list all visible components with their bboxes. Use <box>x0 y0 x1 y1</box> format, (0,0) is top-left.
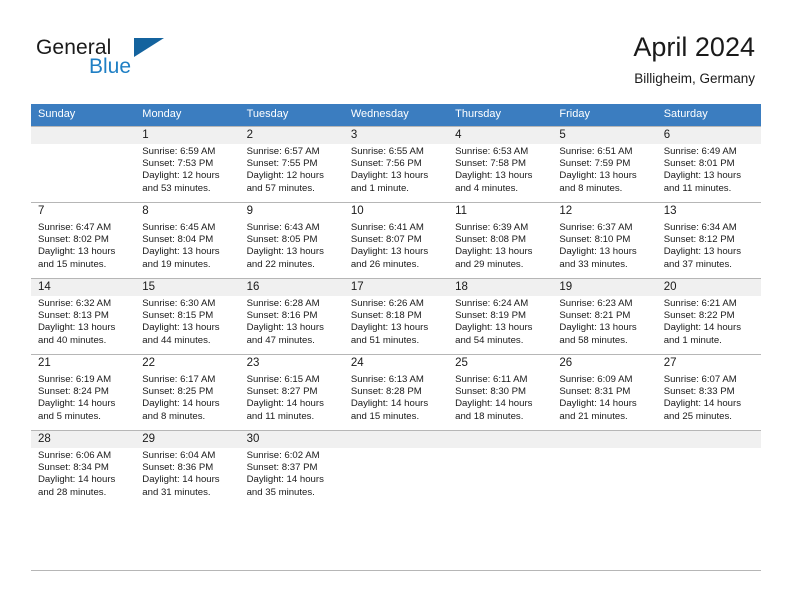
calendar-cell: 22Sunrise: 6:17 AMSunset: 8:25 PMDayligh… <box>135 354 239 430</box>
day-cell[interactable]: 1Sunrise: 6:59 AMSunset: 7:53 PMDaylight… <box>135 126 239 202</box>
sunrise-text: Sunrise: 6:13 AM <box>351 374 443 386</box>
sunrise-text: Sunrise: 6:49 AM <box>664 146 756 158</box>
brand-triangle-icon <box>134 38 164 57</box>
daylight-text: Daylight: 13 hours and 51 minutes. <box>351 322 443 346</box>
sunset-text: Sunset: 8:01 PM <box>664 158 756 170</box>
sunset-text: Sunset: 7:58 PM <box>455 158 547 170</box>
grid-bottom-rule <box>31 570 761 571</box>
daylight-text: Daylight: 13 hours and 8 minutes. <box>559 170 651 194</box>
sunset-text: Sunset: 8:18 PM <box>351 310 443 322</box>
calendar-cell: 1Sunrise: 6:59 AMSunset: 7:53 PMDaylight… <box>135 126 239 202</box>
sunset-text: Sunset: 8:19 PM <box>455 310 547 322</box>
calendar-cell: 20Sunrise: 6:21 AMSunset: 8:22 PMDayligh… <box>657 278 761 354</box>
sunrise-text: Sunrise: 6:07 AM <box>664 374 756 386</box>
sunrise-text: Sunrise: 6:09 AM <box>559 374 651 386</box>
day-number <box>344 431 448 448</box>
weekday-header-friday: Friday <box>552 104 656 126</box>
calendar-cell: 26Sunrise: 6:09 AMSunset: 8:31 PMDayligh… <box>552 354 656 430</box>
day-cell[interactable]: 9Sunrise: 6:43 AMSunset: 8:05 PMDaylight… <box>240 202 344 278</box>
calendar-cell <box>657 430 761 506</box>
day-details: Sunrise: 6:09 AMSunset: 8:31 PMDaylight:… <box>552 372 656 423</box>
sunset-text: Sunset: 7:55 PM <box>247 158 339 170</box>
day-number: 21 <box>31 355 135 372</box>
calendar-cell <box>552 430 656 506</box>
day-details: Sunrise: 6:28 AMSunset: 8:16 PMDaylight:… <box>240 296 344 347</box>
day-details: Sunrise: 6:24 AMSunset: 8:19 PMDaylight:… <box>448 296 552 347</box>
day-cell[interactable]: 13Sunrise: 6:34 AMSunset: 8:12 PMDayligh… <box>657 202 761 278</box>
sunrise-text: Sunrise: 6:53 AM <box>455 146 547 158</box>
day-number: 4 <box>448 127 552 144</box>
sunset-text: Sunset: 8:31 PM <box>559 386 651 398</box>
day-cell-empty <box>657 430 761 506</box>
sunrise-text: Sunrise: 6:21 AM <box>664 298 756 310</box>
calendar-cell: 13Sunrise: 6:34 AMSunset: 8:12 PMDayligh… <box>657 202 761 278</box>
day-details: Sunrise: 6:53 AMSunset: 7:58 PMDaylight:… <box>448 144 552 195</box>
day-number: 28 <box>31 431 135 448</box>
day-number: 18 <box>448 279 552 296</box>
day-number <box>657 431 761 448</box>
daylight-text: Daylight: 14 hours and 31 minutes. <box>142 474 234 498</box>
day-number: 23 <box>240 355 344 372</box>
sunrise-text: Sunrise: 6:59 AM <box>142 146 234 158</box>
day-cell[interactable]: 8Sunrise: 6:45 AMSunset: 8:04 PMDaylight… <box>135 202 239 278</box>
sunrise-text: Sunrise: 6:47 AM <box>38 222 130 234</box>
calendar-cell: 3Sunrise: 6:55 AMSunset: 7:56 PMDaylight… <box>344 126 448 202</box>
calendar-cell: 10Sunrise: 6:41 AMSunset: 8:07 PMDayligh… <box>344 202 448 278</box>
day-cell[interactable]: 25Sunrise: 6:11 AMSunset: 8:30 PMDayligh… <box>448 354 552 430</box>
day-number: 9 <box>240 203 344 220</box>
day-cell-empty <box>344 430 448 506</box>
sunset-text: Sunset: 8:10 PM <box>559 234 651 246</box>
sunset-text: Sunset: 8:27 PM <box>247 386 339 398</box>
calendar-week-row: 21Sunrise: 6:19 AMSunset: 8:24 PMDayligh… <box>31 354 761 430</box>
day-number: 12 <box>552 203 656 220</box>
calendar-week-row: 1Sunrise: 6:59 AMSunset: 7:53 PMDaylight… <box>31 126 761 202</box>
daylight-text: Daylight: 13 hours and 15 minutes. <box>38 246 130 270</box>
day-cell[interactable]: 26Sunrise: 6:09 AMSunset: 8:31 PMDayligh… <box>552 354 656 430</box>
calendar-cell: 17Sunrise: 6:26 AMSunset: 8:18 PMDayligh… <box>344 278 448 354</box>
calendar-cell: 25Sunrise: 6:11 AMSunset: 8:30 PMDayligh… <box>448 354 552 430</box>
sunset-text: Sunset: 7:56 PM <box>351 158 443 170</box>
sunset-text: Sunset: 8:05 PM <box>247 234 339 246</box>
day-details: Sunrise: 6:43 AMSunset: 8:05 PMDaylight:… <box>240 220 344 271</box>
day-details: Sunrise: 6:55 AMSunset: 7:56 PMDaylight:… <box>344 144 448 195</box>
sunrise-text: Sunrise: 6:17 AM <box>142 374 234 386</box>
calendar-cell: 27Sunrise: 6:07 AMSunset: 8:33 PMDayligh… <box>657 354 761 430</box>
day-cell[interactable]: 15Sunrise: 6:30 AMSunset: 8:15 PMDayligh… <box>135 278 239 354</box>
day-details: Sunrise: 6:59 AMSunset: 7:53 PMDaylight:… <box>135 144 239 195</box>
day-number: 25 <box>448 355 552 372</box>
sunrise-text: Sunrise: 6:55 AM <box>351 146 443 158</box>
day-cell[interactable]: 7Sunrise: 6:47 AMSunset: 8:02 PMDaylight… <box>31 202 135 278</box>
day-number: 24 <box>344 355 448 372</box>
daylight-text: Daylight: 14 hours and 1 minute. <box>664 322 756 346</box>
day-number: 6 <box>657 127 761 144</box>
day-details: Sunrise: 6:26 AMSunset: 8:18 PMDaylight:… <box>344 296 448 347</box>
daylight-text: Daylight: 13 hours and 40 minutes. <box>38 322 130 346</box>
day-cell[interactable]: 23Sunrise: 6:15 AMSunset: 8:27 PMDayligh… <box>240 354 344 430</box>
daylight-text: Daylight: 14 hours and 8 minutes. <box>142 398 234 422</box>
calendar-cell: 7Sunrise: 6:47 AMSunset: 8:02 PMDaylight… <box>31 202 135 278</box>
daylight-text: Daylight: 13 hours and 1 minute. <box>351 170 443 194</box>
daylight-text: Daylight: 13 hours and 37 minutes. <box>664 246 756 270</box>
daylight-text: Daylight: 12 hours and 53 minutes. <box>142 170 234 194</box>
calendar-cell <box>31 126 135 202</box>
page-title: April 2024 <box>633 30 755 64</box>
daylight-text: Daylight: 13 hours and 33 minutes. <box>559 246 651 270</box>
calendar-table: Sunday Monday Tuesday Wednesday Thursday… <box>31 104 761 506</box>
day-cell[interactable]: 19Sunrise: 6:23 AMSunset: 8:21 PMDayligh… <box>552 278 656 354</box>
day-cell[interactable]: 17Sunrise: 6:26 AMSunset: 8:18 PMDayligh… <box>344 278 448 354</box>
calendar-cell: 6Sunrise: 6:49 AMSunset: 8:01 PMDaylight… <box>657 126 761 202</box>
sunrise-text: Sunrise: 6:02 AM <box>247 450 339 462</box>
calendar-cell: 24Sunrise: 6:13 AMSunset: 8:28 PMDayligh… <box>344 354 448 430</box>
daylight-text: Daylight: 14 hours and 28 minutes. <box>38 474 130 498</box>
day-cell[interactable]: 18Sunrise: 6:24 AMSunset: 8:19 PMDayligh… <box>448 278 552 354</box>
calendar-page: General Blue April 2024 Billigheim, Germ… <box>0 0 792 612</box>
day-number: 5 <box>552 127 656 144</box>
daylight-text: Daylight: 14 hours and 35 minutes. <box>247 474 339 498</box>
day-cell[interactable]: 10Sunrise: 6:41 AMSunset: 8:07 PMDayligh… <box>344 202 448 278</box>
day-number: 8 <box>135 203 239 220</box>
page-header: General Blue April 2024 Billigheim, Germ… <box>0 0 792 103</box>
sunset-text: Sunset: 8:16 PM <box>247 310 339 322</box>
day-number: 19 <box>552 279 656 296</box>
daylight-text: Daylight: 13 hours and 19 minutes. <box>142 246 234 270</box>
day-number: 10 <box>344 203 448 220</box>
calendar-cell: 2Sunrise: 6:57 AMSunset: 7:55 PMDaylight… <box>240 126 344 202</box>
day-number: 30 <box>240 431 344 448</box>
sunset-text: Sunset: 8:02 PM <box>38 234 130 246</box>
day-cell[interactable]: 6Sunrise: 6:49 AMSunset: 8:01 PMDaylight… <box>657 126 761 202</box>
sunset-text: Sunset: 8:30 PM <box>455 386 547 398</box>
calendar-cell: 19Sunrise: 6:23 AMSunset: 8:21 PMDayligh… <box>552 278 656 354</box>
calendar-cell: 4Sunrise: 6:53 AMSunset: 7:58 PMDaylight… <box>448 126 552 202</box>
day-cell-empty <box>31 126 135 202</box>
day-number: 11 <box>448 203 552 220</box>
calendar-cell: 15Sunrise: 6:30 AMSunset: 8:15 PMDayligh… <box>135 278 239 354</box>
daylight-text: Daylight: 13 hours and 4 minutes. <box>455 170 547 194</box>
day-details: Sunrise: 6:15 AMSunset: 8:27 PMDaylight:… <box>240 372 344 423</box>
daylight-text: Daylight: 13 hours and 44 minutes. <box>142 322 234 346</box>
day-cell[interactable]: 30Sunrise: 6:02 AMSunset: 8:37 PMDayligh… <box>240 430 344 506</box>
sunset-text: Sunset: 8:28 PM <box>351 386 443 398</box>
day-details: Sunrise: 6:02 AMSunset: 8:37 PMDaylight:… <box>240 448 344 499</box>
weekday-header-wednesday: Wednesday <box>344 104 448 126</box>
calendar-cell <box>448 430 552 506</box>
calendar-cell: 8Sunrise: 6:45 AMSunset: 8:04 PMDaylight… <box>135 202 239 278</box>
sunrise-text: Sunrise: 6:39 AM <box>455 222 547 234</box>
day-details: Sunrise: 6:13 AMSunset: 8:28 PMDaylight:… <box>344 372 448 423</box>
day-details: Sunrise: 6:17 AMSunset: 8:25 PMDaylight:… <box>135 372 239 423</box>
calendar-cell: 12Sunrise: 6:37 AMSunset: 8:10 PMDayligh… <box>552 202 656 278</box>
day-details: Sunrise: 6:06 AMSunset: 8:34 PMDaylight:… <box>31 448 135 499</box>
sunset-text: Sunset: 8:13 PM <box>38 310 130 322</box>
sunrise-text: Sunrise: 6:32 AM <box>38 298 130 310</box>
day-number <box>31 127 135 144</box>
day-cell-empty <box>448 430 552 506</box>
day-details: Sunrise: 6:47 AMSunset: 8:02 PMDaylight:… <box>31 220 135 271</box>
daylight-text: Daylight: 13 hours and 58 minutes. <box>559 322 651 346</box>
calendar-cell: 28Sunrise: 6:06 AMSunset: 8:34 PMDayligh… <box>31 430 135 506</box>
sunset-text: Sunset: 8:33 PM <box>664 386 756 398</box>
sunrise-text: Sunrise: 6:04 AM <box>142 450 234 462</box>
day-number: 17 <box>344 279 448 296</box>
calendar-cell <box>344 430 448 506</box>
day-details: Sunrise: 6:23 AMSunset: 8:21 PMDaylight:… <box>552 296 656 347</box>
day-details: Sunrise: 6:41 AMSunset: 8:07 PMDaylight:… <box>344 220 448 271</box>
day-cell[interactable]: 22Sunrise: 6:17 AMSunset: 8:25 PMDayligh… <box>135 354 239 430</box>
sunrise-text: Sunrise: 6:23 AM <box>559 298 651 310</box>
day-details: Sunrise: 6:04 AMSunset: 8:36 PMDaylight:… <box>135 448 239 499</box>
sunrise-text: Sunrise: 6:45 AM <box>142 222 234 234</box>
calendar-cell: 29Sunrise: 6:04 AMSunset: 8:36 PMDayligh… <box>135 430 239 506</box>
sunset-text: Sunset: 8:25 PM <box>142 386 234 398</box>
calendar-cell: 23Sunrise: 6:15 AMSunset: 8:27 PMDayligh… <box>240 354 344 430</box>
daylight-text: Daylight: 13 hours and 22 minutes. <box>247 246 339 270</box>
day-number: 27 <box>657 355 761 372</box>
weekday-header-sunday: Sunday <box>31 104 135 126</box>
brand-name-blue: Blue <box>89 55 131 79</box>
sunset-text: Sunset: 8:08 PM <box>455 234 547 246</box>
sunset-text: Sunset: 8:21 PM <box>559 310 651 322</box>
page-subtitle: Billigheim, Germany <box>633 69 755 89</box>
day-details: Sunrise: 6:11 AMSunset: 8:30 PMDaylight:… <box>448 372 552 423</box>
daylight-text: Daylight: 14 hours and 18 minutes. <box>455 398 547 422</box>
day-number <box>448 431 552 448</box>
day-number: 16 <box>240 279 344 296</box>
sunrise-text: Sunrise: 6:26 AM <box>351 298 443 310</box>
day-details: Sunrise: 6:30 AMSunset: 8:15 PMDaylight:… <box>135 296 239 347</box>
day-details: Sunrise: 6:45 AMSunset: 8:04 PMDaylight:… <box>135 220 239 271</box>
day-number: 3 <box>344 127 448 144</box>
calendar-body: 1Sunrise: 6:59 AMSunset: 7:53 PMDaylight… <box>31 126 761 506</box>
day-number: 20 <box>657 279 761 296</box>
calendar-cell: 11Sunrise: 6:39 AMSunset: 8:08 PMDayligh… <box>448 202 552 278</box>
day-details: Sunrise: 6:19 AMSunset: 8:24 PMDaylight:… <box>31 372 135 423</box>
sunrise-text: Sunrise: 6:28 AM <box>247 298 339 310</box>
sunset-text: Sunset: 8:15 PM <box>142 310 234 322</box>
day-details: Sunrise: 6:32 AMSunset: 8:13 PMDaylight:… <box>31 296 135 347</box>
sunset-text: Sunset: 8:12 PM <box>664 234 756 246</box>
day-details: Sunrise: 6:57 AMSunset: 7:55 PMDaylight:… <box>240 144 344 195</box>
sunset-text: Sunset: 8:22 PM <box>664 310 756 322</box>
day-cell[interactable]: 12Sunrise: 6:37 AMSunset: 8:10 PMDayligh… <box>552 202 656 278</box>
sunrise-text: Sunrise: 6:15 AM <box>247 374 339 386</box>
daylight-text: Daylight: 13 hours and 11 minutes. <box>664 170 756 194</box>
day-details: Sunrise: 6:51 AMSunset: 7:59 PMDaylight:… <box>552 144 656 195</box>
day-number: 7 <box>31 203 135 220</box>
daylight-text: Daylight: 14 hours and 25 minutes. <box>664 398 756 422</box>
sunrise-text: Sunrise: 6:37 AM <box>559 222 651 234</box>
sunrise-text: Sunrise: 6:34 AM <box>664 222 756 234</box>
sunrise-text: Sunrise: 6:19 AM <box>38 374 130 386</box>
day-details: Sunrise: 6:49 AMSunset: 8:01 PMDaylight:… <box>657 144 761 195</box>
daylight-text: Daylight: 13 hours and 26 minutes. <box>351 246 443 270</box>
daylight-text: Daylight: 14 hours and 15 minutes. <box>351 398 443 422</box>
day-cell[interactable]: 29Sunrise: 6:04 AMSunset: 8:36 PMDayligh… <box>135 430 239 506</box>
daylight-text: Daylight: 12 hours and 57 minutes. <box>247 170 339 194</box>
day-number: 22 <box>135 355 239 372</box>
day-cell[interactable]: 28Sunrise: 6:06 AMSunset: 8:34 PMDayligh… <box>31 430 135 506</box>
sunrise-text: Sunrise: 6:57 AM <box>247 146 339 158</box>
day-cell[interactable]: 21Sunrise: 6:19 AMSunset: 8:24 PMDayligh… <box>31 354 135 430</box>
day-cell[interactable]: 14Sunrise: 6:32 AMSunset: 8:13 PMDayligh… <box>31 278 135 354</box>
daylight-text: Daylight: 13 hours and 54 minutes. <box>455 322 547 346</box>
day-details: Sunrise: 6:37 AMSunset: 8:10 PMDaylight:… <box>552 220 656 271</box>
title-block: April 2024 Billigheim, Germany <box>633 30 755 89</box>
calendar-week-row: 14Sunrise: 6:32 AMSunset: 8:13 PMDayligh… <box>31 278 761 354</box>
sunset-text: Sunset: 8:34 PM <box>38 462 130 474</box>
day-number: 2 <box>240 127 344 144</box>
calendar-week-row: 28Sunrise: 6:06 AMSunset: 8:34 PMDayligh… <box>31 430 761 506</box>
daylight-text: Daylight: 13 hours and 47 minutes. <box>247 322 339 346</box>
calendar-cell: 21Sunrise: 6:19 AMSunset: 8:24 PMDayligh… <box>31 354 135 430</box>
day-cell[interactable]: 20Sunrise: 6:21 AMSunset: 8:22 PMDayligh… <box>657 278 761 354</box>
calendar-cell: 18Sunrise: 6:24 AMSunset: 8:19 PMDayligh… <box>448 278 552 354</box>
brand-logo[interactable]: General Blue <box>36 36 236 86</box>
daylight-text: Daylight: 14 hours and 11 minutes. <box>247 398 339 422</box>
calendar-week-row: 7Sunrise: 6:47 AMSunset: 8:02 PMDaylight… <box>31 202 761 278</box>
day-number: 15 <box>135 279 239 296</box>
calendar-cell: 5Sunrise: 6:51 AMSunset: 7:59 PMDaylight… <box>552 126 656 202</box>
day-details: Sunrise: 6:39 AMSunset: 8:08 PMDaylight:… <box>448 220 552 271</box>
sunset-text: Sunset: 8:04 PM <box>142 234 234 246</box>
calendar-header-row: Sunday Monday Tuesday Wednesday Thursday… <box>31 104 761 126</box>
weekday-header-tuesday: Tuesday <box>240 104 344 126</box>
sunset-text: Sunset: 7:53 PM <box>142 158 234 170</box>
sunrise-text: Sunrise: 6:51 AM <box>559 146 651 158</box>
calendar-cell: 16Sunrise: 6:28 AMSunset: 8:16 PMDayligh… <box>240 278 344 354</box>
sunrise-text: Sunrise: 6:30 AM <box>142 298 234 310</box>
sunset-text: Sunset: 8:07 PM <box>351 234 443 246</box>
day-cell[interactable]: 27Sunrise: 6:07 AMSunset: 8:33 PMDayligh… <box>657 354 761 430</box>
day-cell-empty <box>552 430 656 506</box>
day-cell[interactable]: 24Sunrise: 6:13 AMSunset: 8:28 PMDayligh… <box>344 354 448 430</box>
day-number: 29 <box>135 431 239 448</box>
day-cell[interactable]: 4Sunrise: 6:53 AMSunset: 7:58 PMDaylight… <box>448 126 552 202</box>
sunset-text: Sunset: 8:24 PM <box>38 386 130 398</box>
day-number: 13 <box>657 203 761 220</box>
day-cell[interactable]: 3Sunrise: 6:55 AMSunset: 7:56 PMDaylight… <box>344 126 448 202</box>
day-details: Sunrise: 6:34 AMSunset: 8:12 PMDaylight:… <box>657 220 761 271</box>
calendar-cell: 14Sunrise: 6:32 AMSunset: 8:13 PMDayligh… <box>31 278 135 354</box>
day-details: Sunrise: 6:07 AMSunset: 8:33 PMDaylight:… <box>657 372 761 423</box>
sunrise-text: Sunrise: 6:11 AM <box>455 374 547 386</box>
day-number: 1 <box>135 127 239 144</box>
sunrise-text: Sunrise: 6:24 AM <box>455 298 547 310</box>
day-number <box>552 431 656 448</box>
sunset-text: Sunset: 7:59 PM <box>559 158 651 170</box>
day-details: Sunrise: 6:21 AMSunset: 8:22 PMDaylight:… <box>657 296 761 347</box>
calendar-cell: 30Sunrise: 6:02 AMSunset: 8:37 PMDayligh… <box>240 430 344 506</box>
sunset-text: Sunset: 8:36 PM <box>142 462 234 474</box>
day-cell[interactable]: 11Sunrise: 6:39 AMSunset: 8:08 PMDayligh… <box>448 202 552 278</box>
weekday-header-monday: Monday <box>135 104 239 126</box>
daylight-text: Daylight: 14 hours and 21 minutes. <box>559 398 651 422</box>
day-cell[interactable]: 2Sunrise: 6:57 AMSunset: 7:55 PMDaylight… <box>240 126 344 202</box>
day-number: 14 <box>31 279 135 296</box>
sunrise-text: Sunrise: 6:41 AM <box>351 222 443 234</box>
sunrise-text: Sunrise: 6:06 AM <box>38 450 130 462</box>
sunset-text: Sunset: 8:37 PM <box>247 462 339 474</box>
daylight-text: Daylight: 13 hours and 29 minutes. <box>455 246 547 270</box>
calendar-cell: 9Sunrise: 6:43 AMSunset: 8:05 PMDaylight… <box>240 202 344 278</box>
daylight-text: Daylight: 14 hours and 5 minutes. <box>38 398 130 422</box>
sunrise-text: Sunrise: 6:43 AM <box>247 222 339 234</box>
day-cell[interactable]: 16Sunrise: 6:28 AMSunset: 8:16 PMDayligh… <box>240 278 344 354</box>
day-number: 26 <box>552 355 656 372</box>
weekday-header-thursday: Thursday <box>448 104 552 126</box>
weekday-header-saturday: Saturday <box>657 104 761 126</box>
day-cell[interactable]: 5Sunrise: 6:51 AMSunset: 7:59 PMDaylight… <box>552 126 656 202</box>
